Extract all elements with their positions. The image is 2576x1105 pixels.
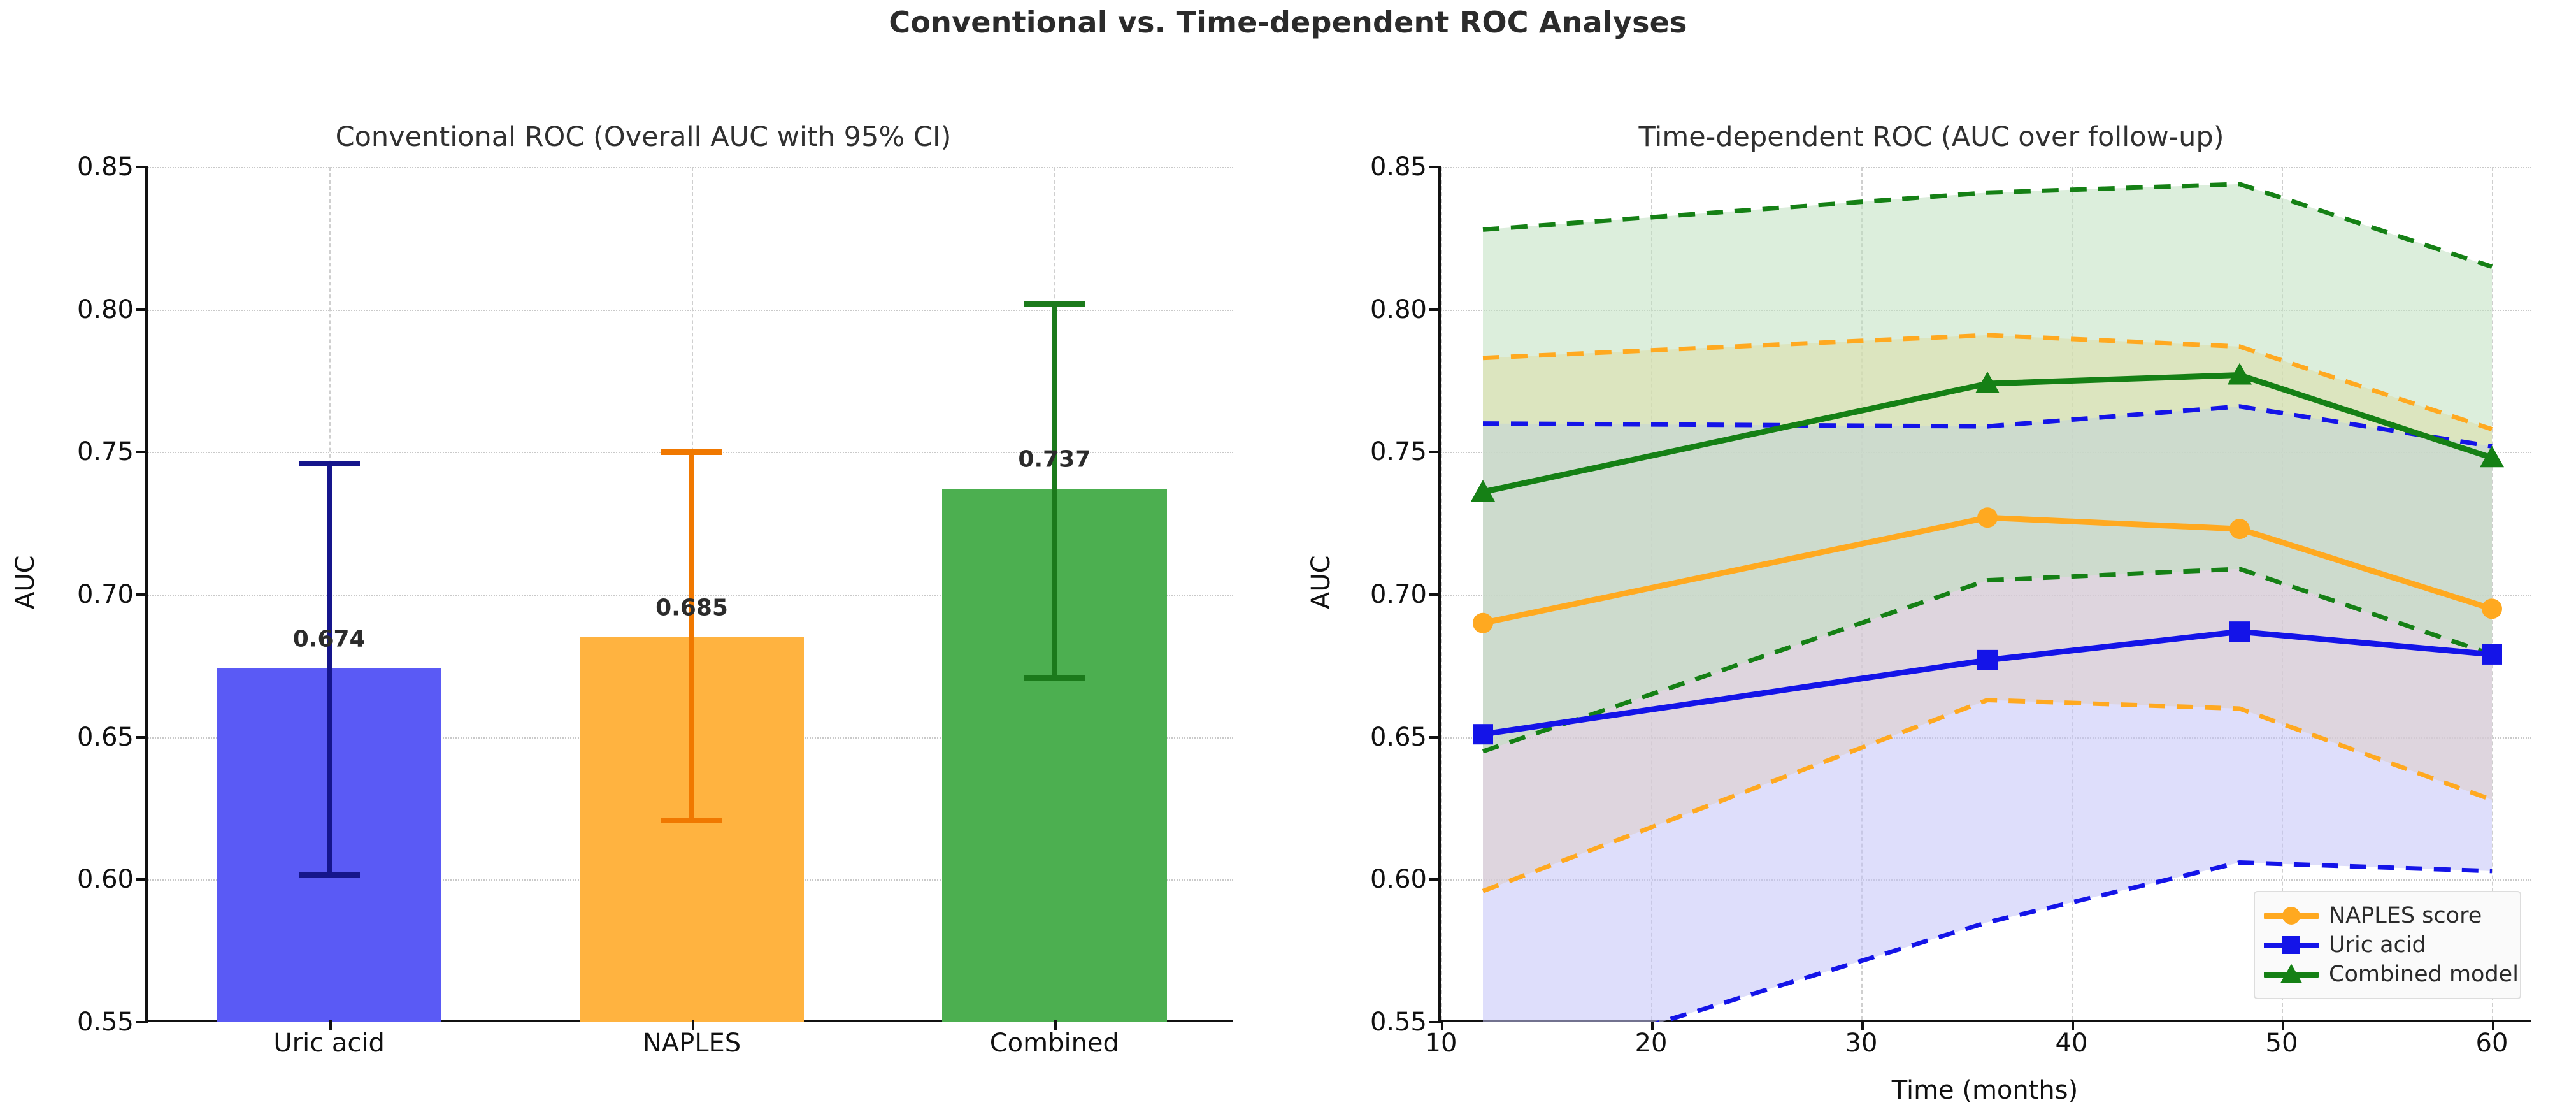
figure-root: Conventional vs. Time-dependent ROC Anal… bbox=[0, 0, 2576, 1092]
errorbar-naples bbox=[689, 449, 694, 823]
left-x-tick-label-naples: NAPLES bbox=[643, 1029, 741, 1058]
left-plot-area: 0.550.600.650.700.750.800.850.674Uric ac… bbox=[145, 167, 1233, 1022]
marker-uric-acid bbox=[2229, 621, 2250, 642]
right-x-tick-label: 60 bbox=[2476, 1029, 2508, 1058]
legend-line-sample bbox=[2264, 966, 2319, 983]
errorbar-cap bbox=[1024, 301, 1085, 307]
panel-timedependent-roc: Time-dependent ROC (AUC over follow-up) … bbox=[1287, 0, 2576, 1092]
left-x-tick-label-combined: Combined bbox=[990, 1029, 1119, 1058]
left-y-tick-label: 0.85 bbox=[77, 152, 134, 182]
square-marker-icon bbox=[2282, 936, 2300, 954]
marker-naples-score bbox=[2482, 598, 2502, 619]
right-x-axis-label: Time (months) bbox=[1438, 1076, 2531, 1105]
marker-uric-acid bbox=[1977, 650, 1998, 670]
left-y-tickmark bbox=[136, 593, 148, 596]
right-y-tick-label: 0.60 bbox=[1370, 865, 1427, 894]
panel-conventional-roc: Conventional ROC (Overall AUC with 95% C… bbox=[0, 0, 1287, 1092]
right-x-tick-label: 50 bbox=[2266, 1029, 2298, 1058]
legend-label: NAPLES score bbox=[2329, 903, 2482, 928]
right-y-tickmark bbox=[1429, 451, 1441, 453]
errorbar-cap bbox=[1024, 675, 1085, 681]
right-y-tick-label: 0.65 bbox=[1370, 723, 1427, 752]
right-y-tick-label: 0.80 bbox=[1370, 295, 1427, 324]
errorbar-cap bbox=[661, 818, 722, 823]
left-y-tick-label: 0.60 bbox=[77, 865, 134, 894]
left-y-tickmark bbox=[136, 166, 148, 168]
right-panel-legend[interactable]: NAPLES scoreUric acidCombined model bbox=[2254, 891, 2521, 999]
errorbar-combined bbox=[1052, 301, 1057, 680]
marker-naples-score bbox=[1473, 613, 1493, 633]
legend-line-sample bbox=[2264, 937, 2319, 953]
legend-label: Combined model bbox=[2329, 962, 2519, 987]
left-y-tick-label: 0.65 bbox=[77, 723, 134, 752]
right-x-tick-label: 30 bbox=[1845, 1029, 1878, 1058]
errorbar-cap bbox=[299, 872, 360, 877]
left-y-tick-label: 0.80 bbox=[77, 295, 134, 324]
errorbar-uric-acid bbox=[327, 461, 332, 877]
errorbar-cap bbox=[299, 461, 360, 466]
right-y-tick-label: 0.55 bbox=[1370, 1007, 1427, 1037]
right-y-tick-label: 0.85 bbox=[1370, 152, 1427, 182]
left-y-tick-label: 0.55 bbox=[77, 1007, 134, 1037]
left-y-tickmark bbox=[136, 451, 148, 453]
circle-marker-icon bbox=[2282, 907, 2300, 925]
bar-value-label: 0.685 bbox=[655, 595, 728, 621]
marker-naples-score bbox=[2229, 519, 2250, 539]
legend-item-naples-score[interactable]: NAPLES score bbox=[2264, 901, 2508, 930]
marker-naples-score bbox=[1977, 507, 1998, 528]
legend-item-combined-model[interactable]: Combined model bbox=[2264, 960, 2508, 989]
bar-value-label: 0.737 bbox=[1018, 447, 1091, 473]
left-y-tick-label: 0.75 bbox=[77, 437, 134, 466]
right-y-tickmark bbox=[1429, 166, 1441, 168]
errorbar-cap bbox=[661, 449, 722, 455]
left-y-tickmark bbox=[136, 308, 148, 311]
right-x-tick-label: 40 bbox=[2056, 1029, 2088, 1058]
legend-label: Uric acid bbox=[2329, 932, 2426, 958]
left-gridline bbox=[148, 167, 1233, 168]
legend-line-sample bbox=[2264, 907, 2319, 924]
left-y-tickmark bbox=[136, 1021, 148, 1023]
right-x-tick-label: 20 bbox=[1635, 1029, 1668, 1058]
marker-uric-acid bbox=[1473, 724, 1493, 744]
triangle-marker-icon bbox=[2280, 964, 2302, 983]
left-y-tick-label: 0.70 bbox=[77, 580, 134, 609]
marker-uric-acid bbox=[2482, 644, 2502, 665]
right-y-tickmark bbox=[1429, 308, 1441, 311]
left-y-tickmark bbox=[136, 736, 148, 739]
right-panel-title: Time-dependent ROC (AUC over follow-up) bbox=[1287, 121, 2576, 153]
left-gridline bbox=[148, 310, 1233, 311]
right-y-tickmark bbox=[1429, 878, 1441, 881]
legend-item-uric-acid[interactable]: Uric acid bbox=[2264, 930, 2508, 960]
right-y-tick-label: 0.70 bbox=[1370, 580, 1427, 609]
right-y-tickmark bbox=[1429, 736, 1441, 739]
left-x-tick-label-uric-acid: Uric acid bbox=[273, 1029, 385, 1058]
left-y-tickmark bbox=[136, 878, 148, 881]
bar-value-label: 0.674 bbox=[293, 626, 366, 653]
right-x-tick-label: 10 bbox=[1425, 1029, 1457, 1058]
right-y-tickmark bbox=[1429, 1021, 1441, 1023]
left-panel-title: Conventional ROC (Overall AUC with 95% C… bbox=[0, 121, 1287, 153]
right-y-tickmark bbox=[1429, 593, 1441, 596]
right-y-tick-label: 0.75 bbox=[1370, 437, 1427, 466]
